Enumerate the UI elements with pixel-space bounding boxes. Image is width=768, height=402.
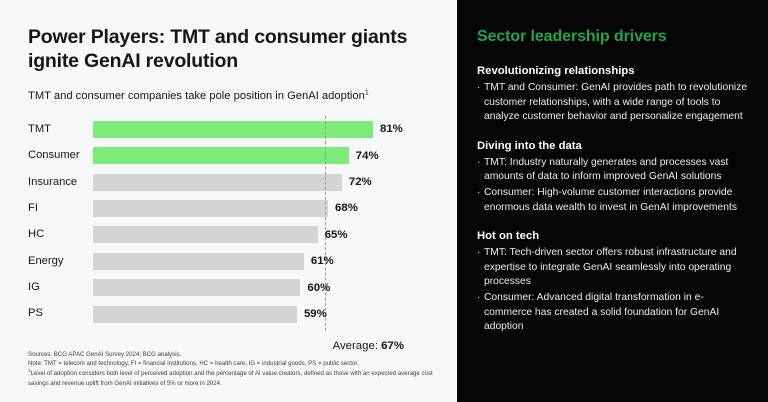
bar-row: IG60% [28, 274, 429, 300]
subtitle-footnote-marker: 1 [365, 89, 369, 96]
bar-category-label: HC [28, 229, 93, 240]
bar-category-label: IG [28, 282, 93, 293]
bar-category-label: Insurance [28, 177, 93, 188]
bar-row: Consumer74% [28, 143, 429, 169]
bar-row: HC65% [28, 222, 429, 248]
drivers-block: Revolutionizing relationships·TMT and Co… [477, 65, 748, 125]
footnote-note: Note: TMT = telecom and technology, FI =… [28, 359, 448, 369]
drivers-block-heading: Revolutionizing relationships [477, 65, 748, 77]
bar-track: 68% [93, 195, 429, 221]
bar-value-label: 59% [304, 308, 327, 320]
bar-track: 60% [93, 274, 429, 300]
drivers-block: Hot on tech·TMT: Tech-driven sector offe… [477, 230, 748, 335]
bar-value-label: 61% [311, 255, 334, 267]
list-item: ·Consumer: Advanced digital transformati… [477, 291, 748, 335]
footnotes: Sources: BCG APAC GenAI Survey 2024; BCG… [28, 350, 448, 389]
bullet-dot-icon: · [477, 246, 484, 290]
average-reference-line [325, 116, 326, 331]
footnote-definition: 1Level of adoption considers both level … [28, 369, 448, 389]
chart-subtitle: TMT and consumer companies take pole pos… [28, 89, 429, 104]
footnote-definition-text: Level of adoption considers both level o… [28, 370, 433, 387]
bar [93, 306, 297, 323]
list-item: ·Consumer: High-volume customer interact… [477, 186, 748, 215]
bar-value-label: 72% [349, 176, 372, 188]
bar-row: TMT81% [28, 116, 429, 142]
page-title: Power Players: TMT and consumer giants i… [28, 26, 429, 74]
drivers-block-heading: Diving into the data [477, 140, 748, 152]
slide-root: Power Players: TMT and consumer giants i… [0, 0, 768, 402]
list-item: ·TMT: Industry naturally generates and p… [477, 156, 748, 185]
bar [93, 200, 328, 217]
bar-value-label: 74% [356, 150, 379, 162]
bar-value-label: 68% [335, 202, 358, 214]
list-item: ·TMT: Tech-driven sector offers robust i… [477, 246, 748, 290]
bar-chart: TMT81%Consumer74%Insurance72%FI68%HC65%E… [28, 116, 429, 321]
list-item-text: Consumer: High-volume customer interacti… [484, 186, 748, 215]
bar-category-label: PS [28, 308, 93, 319]
bullet-dot-icon: · [477, 81, 484, 125]
bar-value-label: 81% [380, 123, 403, 135]
bar-row: Insurance72% [28, 169, 429, 195]
bar-row: FI68% [28, 195, 429, 221]
list-item-text: Consumer: Advanced digital transformatio… [484, 291, 748, 335]
bar-track: 65% [93, 222, 429, 248]
bar [93, 147, 349, 164]
list-item: ·TMT and Consumer: GenAI provides path t… [477, 81, 748, 125]
bar [93, 174, 342, 191]
bar [93, 253, 304, 270]
chart-subtitle-text: TMT and consumer companies take pole pos… [28, 90, 365, 102]
bar-category-label: FI [28, 203, 93, 214]
bar-track: 61% [93, 248, 429, 274]
list-item-text: TMT and Consumer: GenAI provides path to… [484, 81, 748, 125]
bullet-dot-icon: · [477, 291, 484, 335]
bar-track: 81% [93, 116, 429, 142]
bar-track: 59% [93, 301, 429, 327]
bar-row: Energy61% [28, 248, 429, 274]
bar [93, 279, 300, 296]
bar-category-label: TMT [28, 124, 93, 135]
bar-category-label: Energy [28, 256, 93, 267]
list-item-text: TMT: Industry naturally generates and pr… [484, 156, 748, 185]
drivers-panel: Sector leadership drivers Revolutionizin… [457, 0, 768, 402]
bar-track: 72% [93, 169, 429, 195]
bar-value-label: 65% [325, 229, 348, 241]
drivers-block-heading: Hot on tech [477, 230, 748, 242]
bar [93, 121, 373, 138]
drivers-block: Diving into the data·TMT: Industry natur… [477, 140, 748, 215]
drivers-panel-title: Sector leadership drivers [477, 28, 748, 46]
average-caption: Average: 67% [333, 340, 404, 352]
list-item-text: TMT: Tech-driven sector offers robust in… [484, 246, 748, 290]
bullet-dot-icon: · [477, 156, 484, 185]
drivers-block-list: Revolutionizing relationships·TMT and Co… [477, 65, 748, 335]
bar [93, 226, 318, 243]
chart-panel: Power Players: TMT and consumer giants i… [0, 0, 457, 402]
bullet-dot-icon: · [477, 186, 484, 215]
bar-category-label: Consumer [28, 150, 93, 161]
bar-value-label: 60% [307, 282, 330, 294]
bar-track: 74% [93, 143, 429, 169]
average-caption-value: 67% [381, 340, 404, 352]
bar-row: PS59% [28, 301, 429, 327]
average-caption-prefix: Average: [333, 340, 382, 352]
